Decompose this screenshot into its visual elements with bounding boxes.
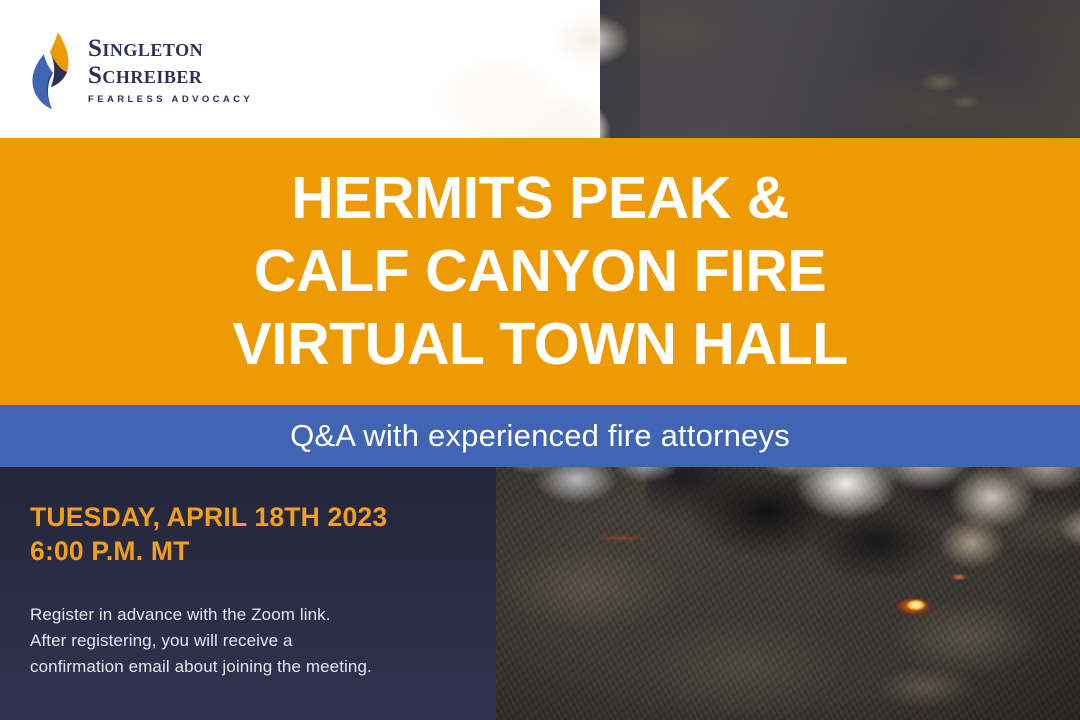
registration-line-3: confirmation email about joining the mee… xyxy=(30,654,475,680)
brand-logo: Singleton Schreiber FEARLESS ADVOCACY xyxy=(28,30,253,110)
photo-vignette xyxy=(496,467,1080,720)
registration-line-2: After registering, you will receive a xyxy=(30,628,475,654)
brand-wordmark: Singleton Schreiber FEARLESS ADVOCACY xyxy=(88,36,253,105)
subtitle-text: Q&A with experienced fire attorneys xyxy=(290,418,790,454)
subtitle-band: Q&A with experienced fire attorneys xyxy=(0,405,1080,467)
details-section: TUESDAY, APRIL 18TH 2023 6:00 P.M. MT Re… xyxy=(0,467,1080,720)
wildfire-photo xyxy=(496,467,1080,720)
brand-name-line2: Schreiber xyxy=(88,63,253,88)
event-date: TUESDAY, APRIL 18TH 2023 xyxy=(30,500,475,534)
brand-tagline: FEARLESS ADVOCACY xyxy=(88,95,253,105)
top-photo-tint xyxy=(640,0,1080,138)
registration-line-1: Register in advance with the Zoom link. xyxy=(30,602,475,628)
brand-name-line1: Singleton xyxy=(88,36,253,61)
header-band: Singleton Schreiber FEARLESS ADVOCACY xyxy=(0,0,1080,138)
title-line-3: VIRTUAL TOWN HALL xyxy=(232,308,847,381)
event-time: 6:00 P.M. MT xyxy=(30,534,475,568)
registration-copy: Register in advance with the Zoom link. … xyxy=(30,602,475,680)
flyer-root: Singleton Schreiber FEARLESS ADVOCACY HE… xyxy=(0,0,1080,720)
title-line-2: CALF CANYON FIRE xyxy=(254,235,826,308)
flame-icon xyxy=(28,30,74,110)
title-band: HERMITS PEAK & CALF CANYON FIRE VIRTUAL … xyxy=(0,138,1080,405)
event-details: TUESDAY, APRIL 18TH 2023 6:00 P.M. MT Re… xyxy=(30,500,475,680)
title-line-1: HERMITS PEAK & xyxy=(291,162,789,235)
